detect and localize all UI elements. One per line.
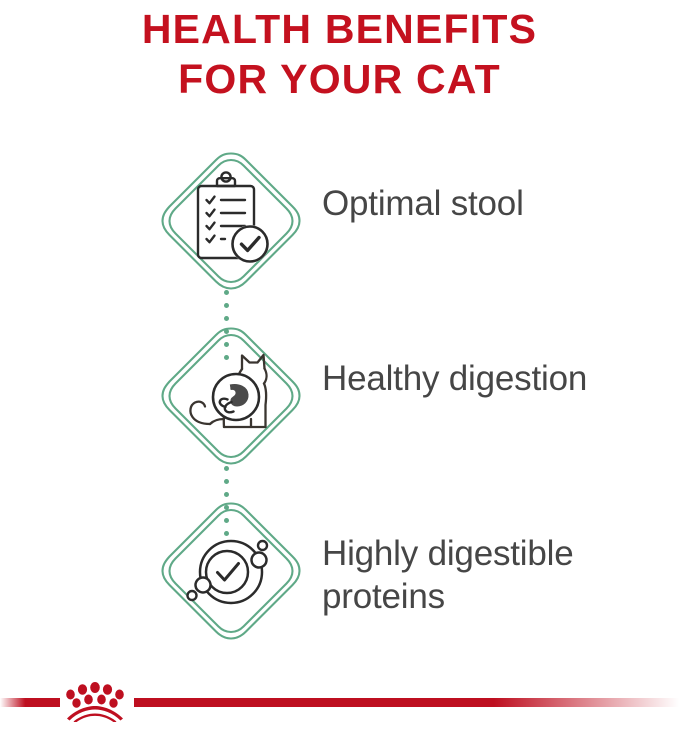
connector-dot [224, 466, 229, 471]
benefit-label-line: Highly digestible [322, 532, 679, 575]
connector-dot [224, 479, 229, 484]
dotted-connector [224, 290, 229, 368]
connector-dot [224, 290, 229, 295]
connector-dot [224, 492, 229, 497]
connector-dot [224, 518, 229, 523]
brand-rule-bar [0, 680, 679, 722]
royal-canin-crown-logo [56, 680, 134, 722]
brand-bar-left-segment [0, 698, 60, 707]
connector-dot [224, 531, 229, 536]
benefit-label-highly-digestible-proteins: Highly digestible proteins [304, 498, 679, 618]
benefit-label-optimal-stool: Optimal stool [304, 148, 679, 225]
health-benefits-infographic: HEALTH BENEFITS FOR YOUR CAT [0, 0, 679, 740]
clipboard-checklist-icon [158, 148, 304, 294]
connector-dot [224, 355, 229, 360]
connector-dot [224, 329, 229, 334]
brand-bar-right-segment [134, 698, 679, 707]
connector-dot [224, 505, 229, 510]
benefit-label-line: proteins [322, 575, 679, 618]
cat-digestion-icon [158, 323, 304, 469]
connector-dot [224, 303, 229, 308]
dotted-connector [224, 466, 229, 544]
title-line-1: HEALTH BENEFITS [0, 0, 679, 54]
connector-dot [224, 342, 229, 347]
connector-dot [224, 316, 229, 321]
benefit-label-line: Optimal stool [322, 182, 679, 225]
title-line-2: FOR YOUR CAT [0, 54, 679, 104]
benefit-row-optimal-stool: Optimal stool [0, 148, 679, 323]
benefit-label-line: Healthy digestion [322, 357, 679, 400]
benefit-row-healthy-digestion: Healthy digestion [0, 323, 679, 498]
benefits-list: Optimal stool [0, 148, 679, 673]
page-title: HEALTH BENEFITS FOR YOUR CAT [0, 0, 679, 104]
protein-molecule-check-icon [158, 498, 304, 644]
benefit-row-highly-digestible-proteins: Highly digestible proteins [0, 498, 679, 673]
benefit-label-healthy-digestion: Healthy digestion [304, 323, 679, 400]
